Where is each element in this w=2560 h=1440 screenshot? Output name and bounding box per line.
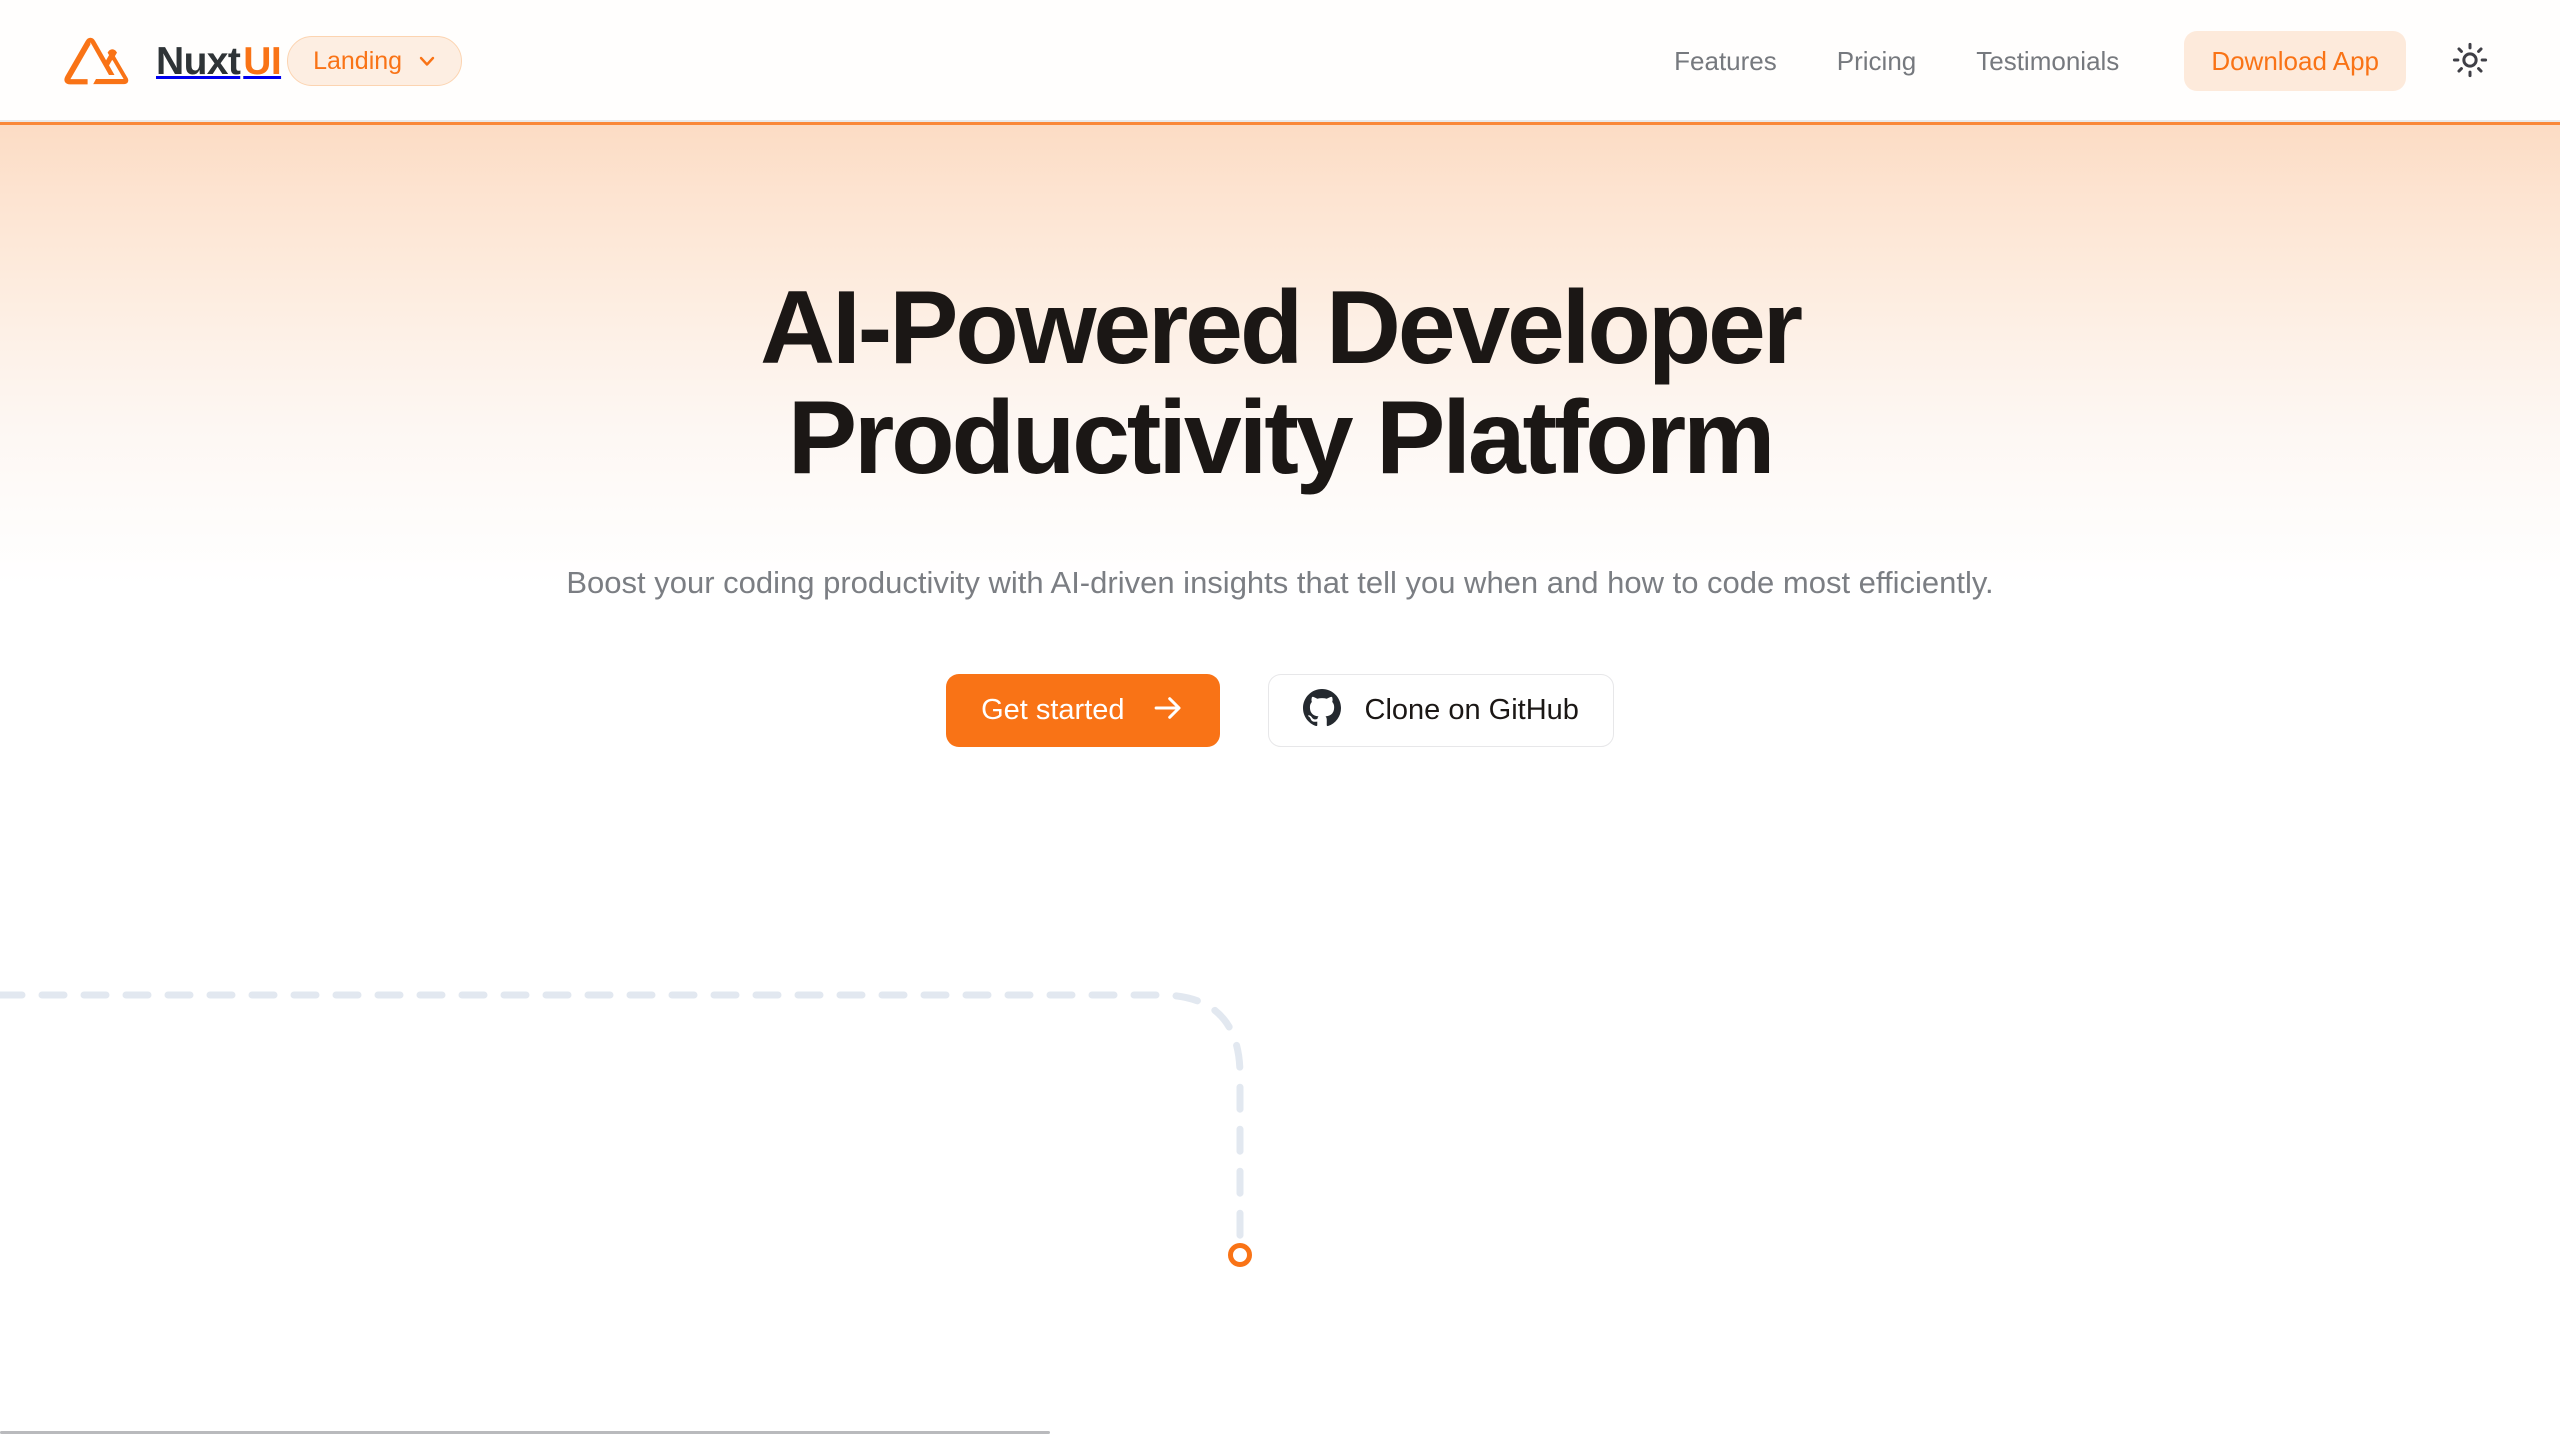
brand-name-primary: Nuxt — [156, 42, 240, 81]
header-accent-line — [0, 122, 2560, 125]
headline-line-2: Productivity Platform — [788, 380, 1773, 496]
headline-line-1: AI-Powered Developer — [760, 270, 1800, 386]
get-started-button[interactable]: Get started — [946, 674, 1219, 747]
theme-toggle-button[interactable] — [2442, 33, 2498, 89]
site-header: NuxtUI Landing Features Pricing Testimon… — [0, 0, 2560, 122]
brand-name: NuxtUI — [156, 42, 281, 81]
landing-variant-dropdown[interactable]: Landing — [287, 36, 462, 86]
landing-variant-label: Landing — [313, 49, 402, 74]
nuxt-mountain-logo-icon — [62, 35, 134, 87]
main-navigation: Features Pricing Testimonials Download A… — [1644, 31, 2498, 91]
clone-on-github-button[interactable]: Clone on GitHub — [1268, 674, 1614, 747]
brand-name-accent: UI — [243, 42, 281, 81]
brand-logo-link[interactable]: NuxtUI — [62, 35, 281, 87]
sun-icon — [2452, 42, 2488, 81]
chevron-down-icon — [415, 49, 439, 73]
clone-on-github-label: Clone on GitHub — [1365, 696, 1579, 725]
get-started-label: Get started — [981, 696, 1124, 725]
page-title: AI-Powered Developer Productivity Platfo… — [0, 273, 2560, 493]
path-node-marker — [1231, 1246, 1250, 1265]
hero-cta-group: Get started Clone on GitHub — [0, 674, 2560, 747]
download-app-button[interactable]: Download App — [2184, 31, 2406, 91]
landing-page: NuxtUI Landing Features Pricing Testimon… — [0, 0, 2560, 1440]
arrow-right-icon — [1151, 691, 1185, 731]
nav-link-features[interactable]: Features — [1644, 48, 1807, 74]
github-icon — [1303, 689, 1341, 733]
dashed-connector-path — [0, 995, 1240, 1240]
nav-link-testimonials[interactable]: Testimonials — [1946, 48, 2149, 74]
hero-section: AI-Powered Developer Productivity Platfo… — [0, 125, 2560, 747]
hero-subtitle: Boost your coding productivity with AI-d… — [0, 561, 2560, 606]
below-fold-card-top-edge — [0, 1431, 1050, 1434]
nav-link-pricing[interactable]: Pricing — [1807, 48, 1946, 74]
